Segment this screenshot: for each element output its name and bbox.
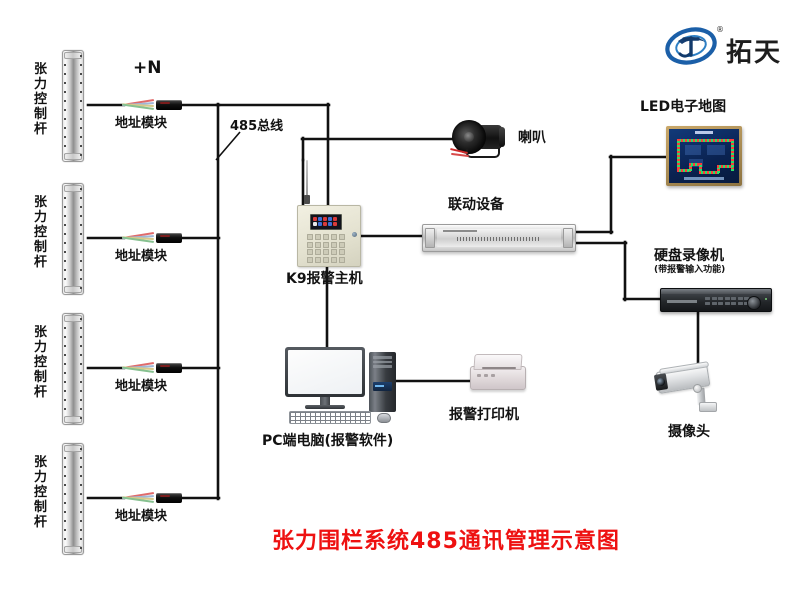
tension-control-pole-2 [62,183,84,295]
diagram-title: 张力围栏系统485通讯管理示意图 [272,523,620,555]
alarm-printer-label: 报警打印机 [449,408,519,423]
pc-tower [369,352,396,412]
bus-label: 485总线 [230,120,283,134]
tension-control-pole-3 [62,313,84,425]
pole-label-3: 张 力 控 制 杆 [33,325,48,400]
hard-disk-recorder[interactable] [660,288,772,312]
address-module-label-4: 地址模块 [115,510,167,524]
address-module-4 [122,491,182,505]
brand-name: 拓天 [726,32,782,69]
dvr-power-led-icon [765,298,767,300]
address-module-3 [122,361,182,375]
host-lcd-screen [310,214,342,230]
pole-label-1: 张 力 控 制 杆 [33,62,48,137]
horn-speaker [452,118,508,158]
pc-keyboard[interactable] [289,411,371,424]
address-module-1 [122,98,182,112]
host-side-knob[interactable] [352,232,357,237]
pc-workstation[interactable] [285,347,403,425]
linkage-device [422,224,576,252]
led-map-label: LED电子地图 [640,100,726,115]
host-antenna [306,160,308,204]
dvr-button-row[interactable] [705,297,749,305]
address-module-label-2: 地址模块 [115,250,167,264]
surveillance-camera [655,362,729,420]
pole-label-2: 张 力 控 制 杆 [33,195,48,270]
camera-label: 摄像头 [668,425,710,440]
dvr-label: 硬盘录像机 [654,249,724,264]
bus-leader-line [216,132,240,160]
horn-speaker-label: 喇叭 [518,131,546,146]
pc-mouse[interactable] [377,413,391,423]
led-electronic-map [666,126,742,186]
k9-alarm-host-label: K9报警主机 [286,272,363,287]
alarm-printer [470,352,526,390]
pc-monitor [285,347,365,397]
linkage-device-label: 联动设备 [448,198,504,213]
dvr-jog-dial[interactable] [747,296,761,310]
trademark-symbol: ® [716,25,724,34]
pole-label-4: 张 力 控 制 杆 [33,455,48,530]
pc-label: PC端电脑(报警软件) [262,434,393,449]
address-module-label-1: 地址模块 [115,117,167,131]
tension-control-pole-4 [62,443,84,555]
address-module-label-3: 地址模块 [115,380,167,394]
diagram-canvas: ® 拓天 张 力 控 制 杆 地址模块 +N 张 力 控 制 杆 地址模块 张 … [0,0,800,600]
pole-multiplier-label: +N [133,60,161,78]
tension-control-pole-1 [62,50,84,162]
dvr-sublabel: (带报警输入功能) [654,266,725,275]
host-keypad[interactable] [307,234,345,263]
k9-alarm-host[interactable] [297,205,361,267]
address-module-2 [122,231,182,245]
brand-logo: ® 拓天 [664,26,794,70]
tuotian-emblem-icon [664,26,720,66]
